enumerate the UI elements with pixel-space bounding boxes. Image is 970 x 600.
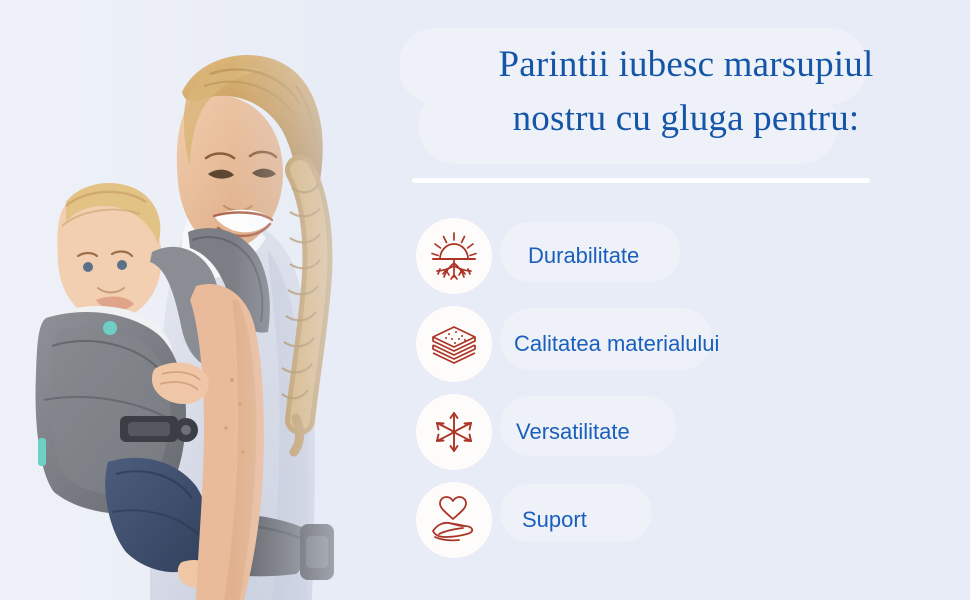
list-item: Versatilitate: [400, 388, 970, 476]
content-panel: Parintii iubesc marsupiul nostru cu glug…: [400, 0, 970, 600]
page-title: Parintii iubesc marsupiul nostru cu glug…: [412, 38, 960, 146]
icon-badge: [416, 218, 492, 294]
list-item: Calitatea materialului: [400, 300, 970, 388]
sun-roots-icon: [427, 229, 481, 283]
headline-line-1: Parintii iubesc marsupiul: [499, 44, 874, 85]
photo-illustration: [0, 0, 400, 600]
feature-label: Suport: [522, 507, 587, 533]
feature-label: Durabilitate: [528, 243, 639, 269]
hand-heart-icon: [427, 493, 481, 547]
multi-direction-arrows-icon: [427, 405, 481, 459]
list-item: Durabilitate: [400, 212, 970, 300]
divider: [412, 178, 870, 183]
list-item: Suport: [400, 476, 970, 564]
fabric-layers-icon: [427, 317, 481, 371]
icon-badge: [416, 482, 492, 558]
headline-line-2: nostru cu gluga pentru:: [412, 92, 960, 146]
feature-label: Versatilitate: [516, 419, 630, 445]
feature-list: Durabilitate: [400, 212, 970, 564]
feature-label: Calitatea materialului: [514, 331, 719, 357]
icon-badge: [416, 306, 492, 382]
lifestyle-photo: [0, 0, 400, 600]
icon-badge: [416, 394, 492, 470]
promo-banner: Parintii iubesc marsupiul nostru cu glug…: [0, 0, 970, 600]
